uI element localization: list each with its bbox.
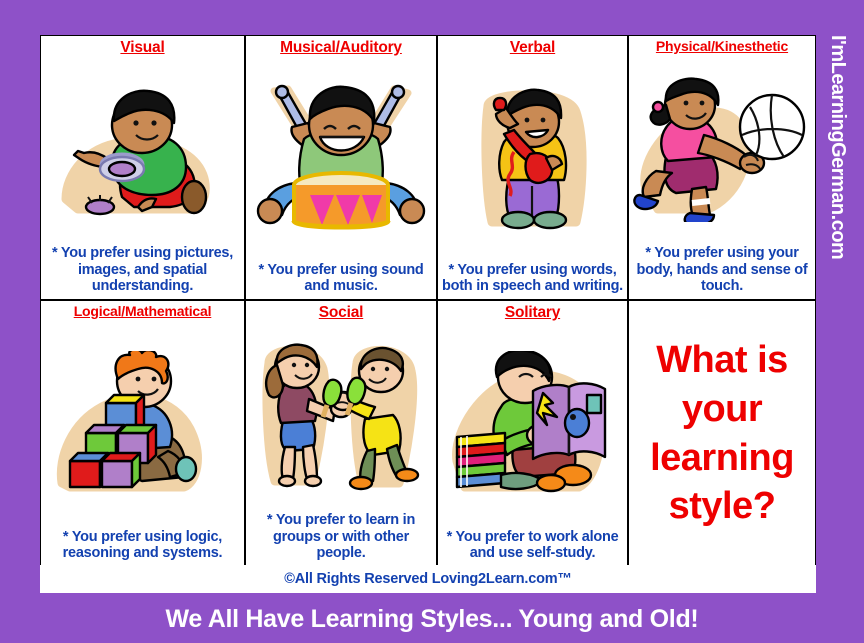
cell-title-visual: Visual xyxy=(41,36,244,56)
cell-desc-physical-kinesthetic: * You prefer using your body, hands and … xyxy=(629,245,815,299)
question-wrapper: What is your learning style? xyxy=(629,301,815,566)
cell-title-verbal: Verbal xyxy=(438,36,627,56)
cell-title-solitary: Solitary xyxy=(438,301,627,321)
cell-solitary[interactable]: Solitary xyxy=(438,301,629,566)
copyright-notice: ©All Rights Reserved Loving2Learn.com™ xyxy=(40,565,816,593)
site-watermark-text: I'mLearningGerman.com xyxy=(826,35,849,259)
cell-desc-verbal: * You prefer using words, both in speech… xyxy=(438,262,627,299)
cell-musical-auditory[interactable]: Musical/Auditory xyxy=(246,36,438,301)
cell-question-panel: What is your learning style? xyxy=(629,301,815,566)
cell-desc-visual: * You prefer using pictures, images, and… xyxy=(41,245,244,299)
learning-styles-grid: Visual xyxy=(41,36,815,564)
cell-desc-logical-mathematical: * You prefer using logic, reasoning and … xyxy=(41,529,244,566)
cell-title-physical-kinesthetic: Physical/Kinesthetic xyxy=(629,36,815,54)
boy-playing-drum-illustration xyxy=(246,56,436,261)
question-text: What is your learning style? xyxy=(650,336,794,531)
question-line-1: What is xyxy=(650,336,794,385)
boy-on-telephone-illustration xyxy=(438,56,627,261)
bottom-banner-text: We All Have Learning Styles... Young and… xyxy=(0,596,864,643)
boy-stacking-blocks-illustration xyxy=(41,319,244,528)
cell-visual[interactable]: Visual xyxy=(41,36,246,301)
boy-with-magnifying-glass-illustration xyxy=(41,56,244,245)
learning-styles-grid-card: Visual xyxy=(40,35,816,565)
question-line-4: style? xyxy=(650,482,794,531)
question-line-3: learning xyxy=(650,434,794,483)
question-line-2: your xyxy=(650,385,794,434)
cell-verbal[interactable]: Verbal xyxy=(438,36,629,301)
cell-social[interactable]: Social xyxy=(246,301,438,566)
cell-desc-social: * You prefer to learn in groups or with … xyxy=(246,512,436,566)
two-children-playing-illustration xyxy=(246,321,436,512)
cell-title-social: Social xyxy=(246,301,436,321)
poster-background: Visual xyxy=(0,0,864,643)
cell-logical-mathematical[interactable]: Logical/Mathematical xyxy=(41,301,246,566)
boy-reading-book-illustration xyxy=(438,321,627,528)
cell-physical-kinesthetic[interactable]: Physical/Kinesthetic xyxy=(629,36,815,301)
cell-title-musical-auditory: Musical/Auditory xyxy=(246,36,436,56)
girl-playing-volleyball-illustration xyxy=(629,54,815,245)
cell-desc-solitary: * You prefer to work alone and use self-… xyxy=(438,529,627,566)
cell-title-logical-mathematical: Logical/Mathematical xyxy=(41,301,244,319)
site-watermark: I'mLearningGerman.com xyxy=(819,35,859,380)
cell-desc-musical-auditory: * You prefer using sound and music. xyxy=(246,262,436,299)
